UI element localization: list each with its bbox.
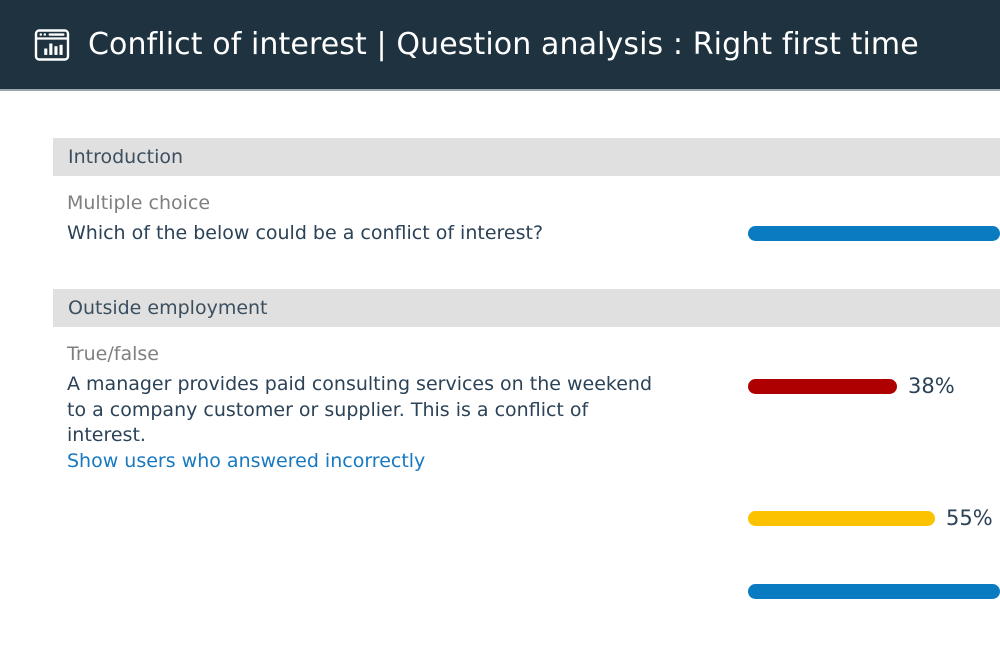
question-type-label: Multiple choice (67, 191, 667, 216)
section-header-outside-employment: Outside employment (53, 289, 1000, 327)
result-bar-value: 38% (908, 376, 955, 397)
result-bar-row[interactable]: 55% (748, 510, 993, 526)
result-bar-blue[interactable] (748, 584, 1000, 599)
result-bar-value: 55% (946, 508, 993, 529)
question-item: Multiple choice Which of the below could… (67, 191, 667, 247)
result-bar-red[interactable] (748, 379, 897, 394)
show-incorrect-users-link[interactable]: Show users who answered incorrectly (67, 449, 667, 475)
app-header: Conflict of interest | Question analysis… (0, 0, 1000, 91)
window-bar-chart-icon (33, 26, 71, 64)
result-bar-row[interactable] (748, 225, 1000, 241)
page-title: Conflict of interest | Question analysis… (88, 30, 919, 60)
section-title: Outside employment (68, 299, 268, 318)
section-header-introduction: Introduction (53, 138, 1000, 176)
result-bar-row[interactable]: 38% (748, 378, 955, 394)
section-title: Introduction (68, 148, 183, 167)
question-type-label: True/false (67, 342, 667, 367)
result-bar-blue[interactable] (748, 226, 1000, 241)
question-text: Which of the below could be a conflict o… (67, 221, 667, 247)
question-item: True/false A manager provides paid consu… (67, 342, 667, 474)
page-root: Conflict of interest | Question analysis… (0, 0, 1000, 646)
result-bar-row[interactable] (748, 583, 1000, 599)
question-text: A manager provides paid consulting servi… (67, 372, 667, 449)
result-bar-yellow[interactable] (748, 511, 935, 526)
content-area: Introduction Multiple choice Which of th… (0, 93, 1000, 646)
